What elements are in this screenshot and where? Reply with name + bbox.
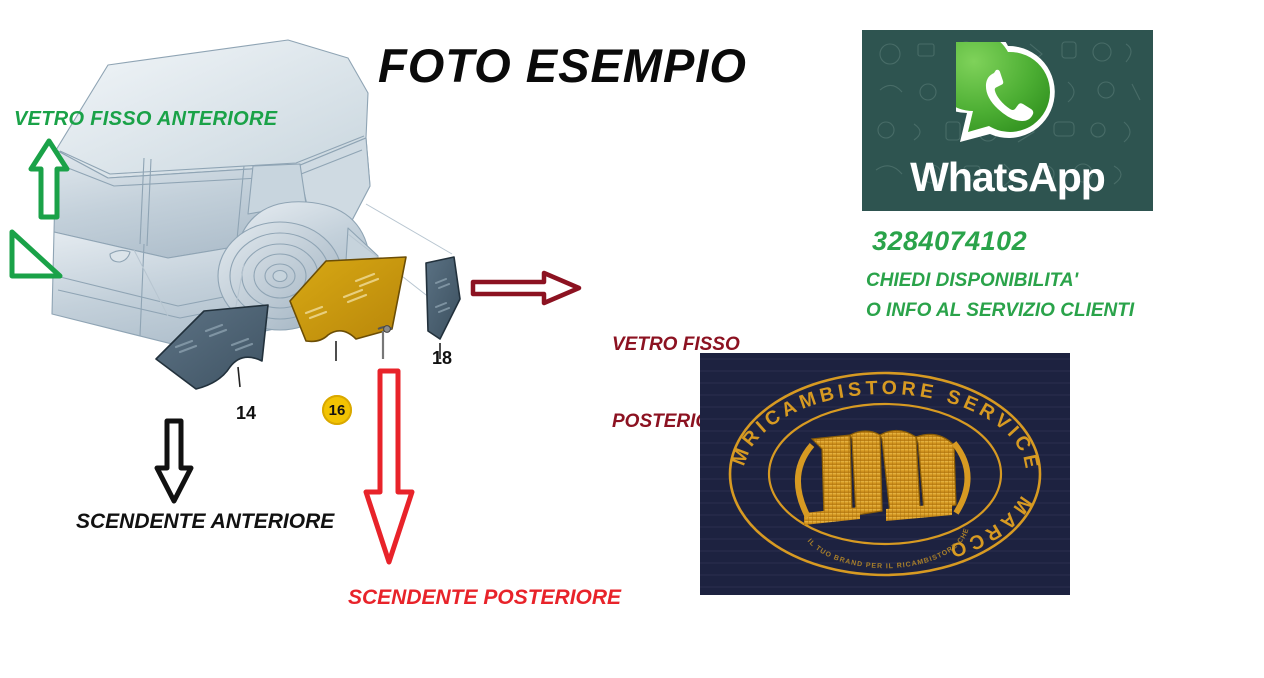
- part-number-14: 14: [236, 403, 256, 424]
- page-title: FOTO ESEMPIO: [378, 38, 747, 93]
- red-down-arrow-icon: [363, 368, 415, 566]
- green-up-arrow-icon: [28, 138, 70, 220]
- contact-line-1: CHIEDI DISPONIBILITA': [866, 270, 1078, 292]
- part-number-18: 18: [432, 348, 452, 369]
- dark-red-right-arrow-icon: [470, 270, 582, 306]
- green-triangle-icon: [8, 228, 64, 280]
- whatsapp-banner[interactable]: WhatsApp: [862, 30, 1153, 211]
- callout-vetro-fisso-anteriore: VETRO FISSO ANTERIORE: [14, 108, 277, 131]
- contact-phone-number[interactable]: 3284074102: [872, 226, 1027, 257]
- whatsapp-phone-bubble-icon: [956, 42, 1060, 146]
- black-down-arrow-icon: [154, 418, 194, 504]
- contact-line-2: O INFO AL SERVIZIO CLIENTI: [866, 300, 1134, 322]
- whatsapp-wordmark: WhatsApp: [862, 154, 1153, 201]
- part-number-16-badge: 16: [322, 395, 352, 425]
- callout-scendente-anteriore: SCENDENTE ANTERIORE: [76, 510, 334, 534]
- callout-scendente-posteriore: SCENDENTE POSTERIORE: [348, 586, 621, 610]
- exploded-glass-parts: [140, 255, 470, 435]
- shop-logo-image: MRICAMBISTORE SERVICE DI RUSSO MARCO: [700, 353, 1070, 595]
- poster-canvas: 14 16 17 18 FOTO ESEMPIO VETRO FISSO ANT…: [0, 0, 1264, 678]
